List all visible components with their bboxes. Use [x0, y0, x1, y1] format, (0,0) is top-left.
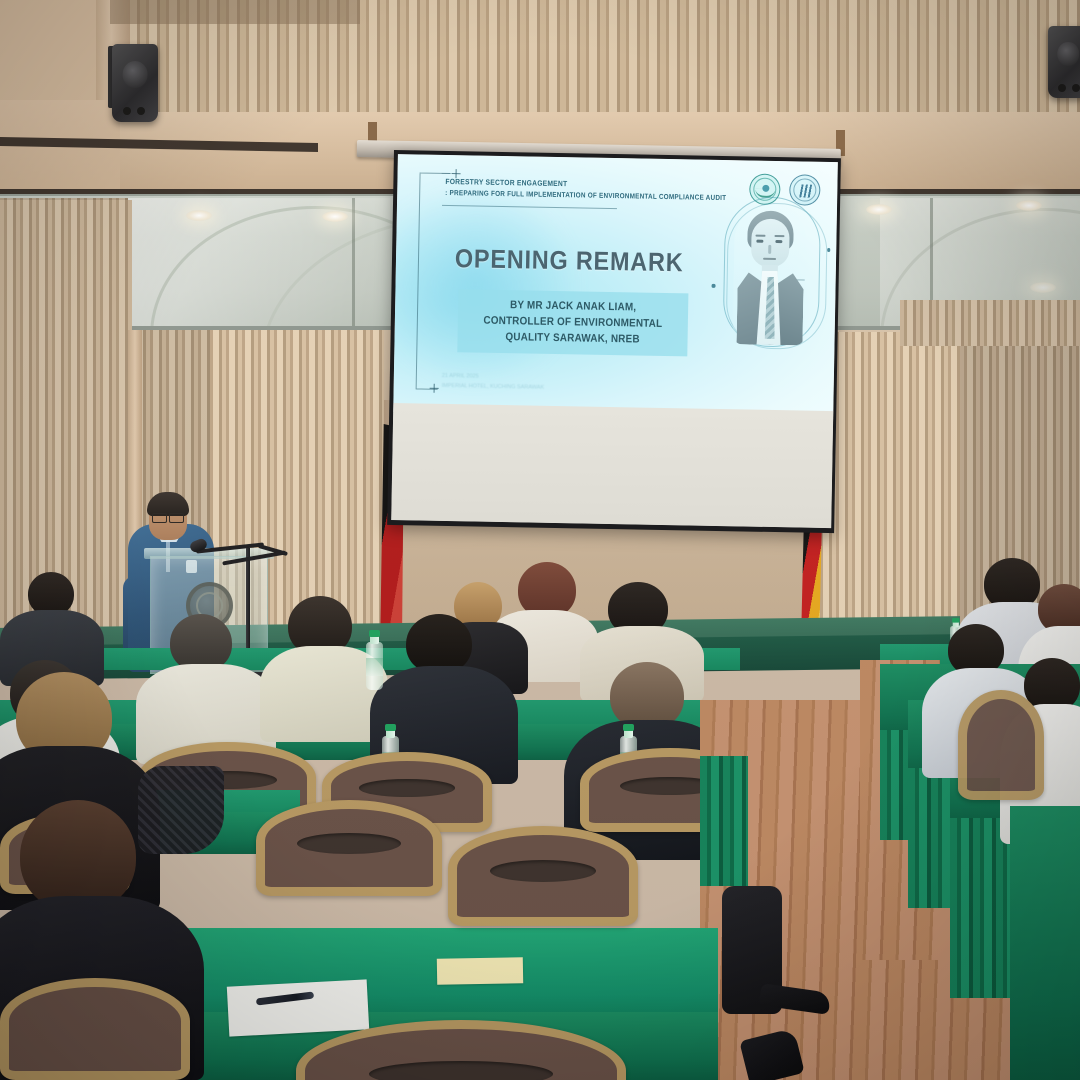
- speaker-tweeter-icon: [123, 107, 131, 115]
- notepad-foreground[interactable]: [437, 957, 523, 984]
- chair-backrest: [958, 690, 1044, 800]
- bottle-cap: [385, 724, 396, 731]
- ceiling-downlight-1: [186, 210, 212, 221]
- bottle-cap: [623, 724, 634, 731]
- ceiling-downlight-2: [322, 211, 348, 222]
- curtain-right-upper: [900, 300, 1080, 346]
- ceiling-downlight-5: [1030, 282, 1056, 293]
- chair-backrest: [0, 978, 190, 1080]
- ceiling-downlight-3: [866, 204, 892, 215]
- portrait-nose: [768, 245, 771, 254]
- chair-handle-cutout: [359, 779, 454, 797]
- loudspeaker-left: [112, 44, 158, 122]
- bracket-plus-bottom-icon: [430, 384, 439, 393]
- slide-portrait: [724, 198, 815, 352]
- banquet-chair-foreground-center[interactable]: [296, 1020, 626, 1080]
- slide-corner-bracket: [416, 172, 442, 389]
- glass-rail-post-1: [352, 198, 355, 328]
- bracket-tick-top: [442, 173, 451, 174]
- presentation-slide: FORESTRY SECTOR ENGAGEMENT : PREPARING F…: [393, 154, 838, 420]
- ceiling-downlight-4: [1016, 200, 1042, 211]
- portrait-mouth: [763, 258, 776, 260]
- ceiling-shadow-strip: [110, 0, 360, 24]
- slide-byline-box: BY MR JACK ANAK LIAM, CONTROLLER OF ENVI…: [457, 289, 688, 357]
- portrait-eye-left: [756, 240, 763, 243]
- table-foreground-right: [1010, 806, 1080, 1080]
- wavy-logo-bars: [799, 184, 813, 197]
- portrait-accent-dot-left: [712, 284, 716, 288]
- portrait-accent-dot-right: [827, 248, 831, 252]
- screen-blank-area: [391, 403, 833, 528]
- table-right-far-skirt: [700, 756, 748, 886]
- banquet-chair-right-1[interactable]: [958, 690, 1044, 800]
- bottle-cap: [952, 618, 959, 623]
- speaker-cone-icon: [123, 61, 148, 88]
- portrait-face: [751, 219, 790, 268]
- bottle-label: [366, 658, 383, 676]
- speaker-tweeter-icon: [1058, 84, 1066, 92]
- conference-hall-photo: FORESTRY SECTOR ENGAGEMENT : PREPARING F…: [0, 0, 1080, 1080]
- screen-surface: FORESTRY SECTOR ENGAGEMENT : PREPARING F…: [391, 154, 838, 528]
- portrait-eye-right: [775, 240, 782, 243]
- bottle-cap: [369, 630, 380, 637]
- portrait-brow-left: [755, 235, 765, 237]
- lace-sleeve-detail: [138, 766, 224, 854]
- presenter-glasses-icon: [152, 513, 184, 521]
- portrait-brow-right: [774, 235, 784, 237]
- chair-handle-cutout: [297, 833, 401, 854]
- banquet-chair-foreground-left[interactable]: [0, 978, 190, 1080]
- portrait-illustration: [732, 204, 807, 345]
- banquet-chair-row-2[interactable]: [448, 826, 638, 926]
- slide-footer: 21 APRIL 2025 IMPERIAL HOTEL, KUCHING SA…: [442, 372, 642, 394]
- curtain-left: [0, 200, 132, 640]
- audience-head: [406, 614, 472, 674]
- water-bottle-1: [366, 642, 383, 690]
- banquet-chair-row-1[interactable]: [256, 800, 442, 896]
- chair-handle-cutout: [490, 860, 596, 882]
- speaker-cone-icon: [1057, 42, 1079, 66]
- loudspeaker-right: [1048, 26, 1080, 98]
- projection-screen: FORESTRY SECTOR ENGAGEMENT : PREPARING F…: [387, 150, 841, 533]
- slide-byline-line3: QUALITY SARAWAK, NREB: [474, 329, 670, 349]
- nreb-logo-center: [762, 185, 769, 192]
